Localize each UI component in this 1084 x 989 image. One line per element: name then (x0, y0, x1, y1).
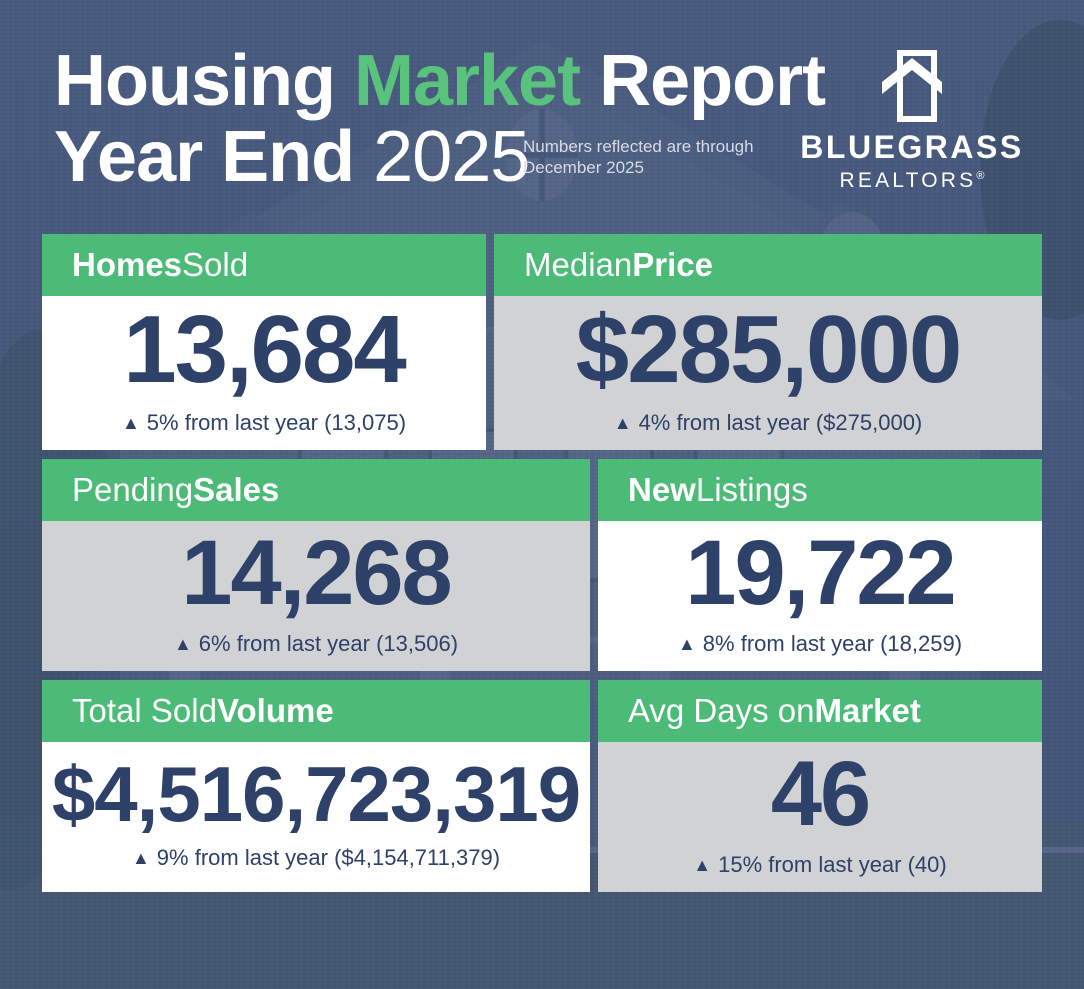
metrics-row-2: Pending Sales 14,268 ▲6% from last year … (42, 459, 1042, 671)
title-part-year-end: Year End (54, 117, 373, 197)
card-title-bold: Volume (217, 693, 334, 729)
comparison-text: 6% from last year (13,506) (199, 631, 458, 657)
metric-value-pending-sales: 14,268 (181, 527, 450, 619)
up-arrow-icon: ▲ (174, 635, 192, 653)
card-body-median-price: $285,000 ▲4% from last year ($275,000) (494, 296, 1042, 450)
card-body-new-listings: 19,722 ▲8% from last year (18,259) (598, 521, 1042, 671)
metric-value-median-price: $285,000 (576, 302, 960, 398)
comparison-text: 4% from last year ($275,000) (639, 410, 923, 436)
comparison-text: 8% from last year (18,259) (703, 631, 962, 657)
metric-card-homes-sold[interactable]: Homes Sold 13,684 ▲5% from last year (13… (42, 234, 486, 450)
card-header-median-price: Median Price (494, 234, 1042, 296)
metrics-row-1: Homes Sold 13,684 ▲5% from last year (13… (42, 234, 1042, 450)
up-arrow-icon: ▲ (614, 414, 632, 432)
comparison-text: 5% from last year (13,075) (147, 410, 406, 436)
metric-value-new-listings: 19,722 (685, 527, 954, 619)
up-arrow-icon: ▲ (122, 414, 140, 432)
card-header-pending-sales: Pending Sales (42, 459, 590, 521)
logo-subwordmark: REALTORS® (787, 164, 1037, 193)
card-title-bold: Price (632, 247, 713, 283)
title-part-housing: Housing (54, 41, 354, 121)
metric-comparison-new-listings: ▲8% from last year (18,259) (678, 631, 962, 657)
metric-value-total-sold-volume: $4,516,723,319 (52, 755, 580, 833)
registered-trademark-icon: ® (976, 170, 984, 182)
card-title-light: Avg Days on (628, 693, 815, 729)
card-title-light: Median (524, 247, 632, 283)
metrics-grid: Homes Sold 13,684 ▲5% from last year (13… (42, 234, 1042, 901)
up-arrow-icon: ▲ (693, 856, 711, 874)
metrics-row-3: Total Sold Volume $4,516,723,319 ▲9% fro… (42, 680, 1042, 892)
card-title-bold: Homes (72, 247, 182, 283)
metric-card-new-listings[interactable]: New Listings 19,722 ▲8% from last year (… (598, 459, 1042, 671)
metric-value-avg-days-on-market: 46 (771, 748, 869, 840)
metric-card-avg-days-on-market[interactable]: Avg Days on Market 46 ▲15% from last yea… (598, 680, 1042, 892)
card-title-bold: Market (815, 693, 921, 729)
metric-comparison-pending-sales: ▲6% from last year (13,506) (174, 631, 458, 657)
card-title-light: Pending (72, 472, 193, 508)
card-title-bold: New (628, 472, 696, 508)
card-body-total-sold-volume: $4,516,723,319 ▲9% from last year ($4,15… (42, 742, 590, 892)
metric-comparison-total-sold-volume: ▲9% from last year ($4,154,711,379) (132, 845, 500, 871)
metric-card-median-price[interactable]: Median Price $285,000 ▲4% from last year… (494, 234, 1042, 450)
up-arrow-icon: ▲ (678, 635, 696, 653)
card-body-avg-days-on-market: 46 ▲15% from last year (40) (598, 742, 1042, 892)
card-title-tail: Sold (182, 247, 248, 283)
metric-value-homes-sold: 13,684 (123, 302, 405, 398)
bluegrass-realtors-logo: BLUEGRASS REALTORS® (787, 50, 1037, 193)
report-header: Housing Market Report Year End 2025 Numb… (0, 0, 1084, 226)
card-title-tail: Listings (696, 472, 808, 508)
card-header-homes-sold: Homes Sold (42, 234, 486, 296)
metric-comparison-homes-sold: ▲5% from last year (13,075) (122, 410, 406, 436)
title-part-market: Market (354, 41, 580, 121)
card-body-pending-sales: 14,268 ▲6% from last year (13,506) (42, 521, 590, 671)
card-header-avg-days-on-market: Avg Days on Market (598, 680, 1042, 742)
up-arrow-icon: ▲ (132, 849, 150, 867)
metric-card-pending-sales[interactable]: Pending Sales 14,268 ▲6% from last year … (42, 459, 590, 671)
card-header-new-listings: New Listings (598, 459, 1042, 521)
metric-comparison-avg-days-on-market: ▲15% from last year (40) (693, 852, 946, 878)
card-body-homes-sold: 13,684 ▲5% from last year (13,075) (42, 296, 486, 450)
comparison-text: 9% from last year ($4,154,711,379) (157, 845, 500, 871)
logo-wordmark: BLUEGRASS (787, 130, 1037, 164)
report-subtitle: Numbers reflected are through December 2… (523, 136, 773, 178)
card-header-total-sold-volume: Total Sold Volume (42, 680, 590, 742)
metric-comparison-median-price: ▲4% from last year ($275,000) (614, 410, 923, 436)
card-title-light: Total Sold (72, 693, 217, 729)
comparison-text: 15% from last year (40) (718, 852, 947, 878)
title-part-year: 2025 (373, 117, 529, 197)
metric-card-total-sold-volume[interactable]: Total Sold Volume $4,516,723,319 ▲9% fro… (42, 680, 590, 892)
logo-subwordmark-text: REALTORS (840, 169, 977, 192)
card-title-bold: Sales (193, 472, 279, 508)
house-door-logo-icon (787, 50, 1037, 122)
